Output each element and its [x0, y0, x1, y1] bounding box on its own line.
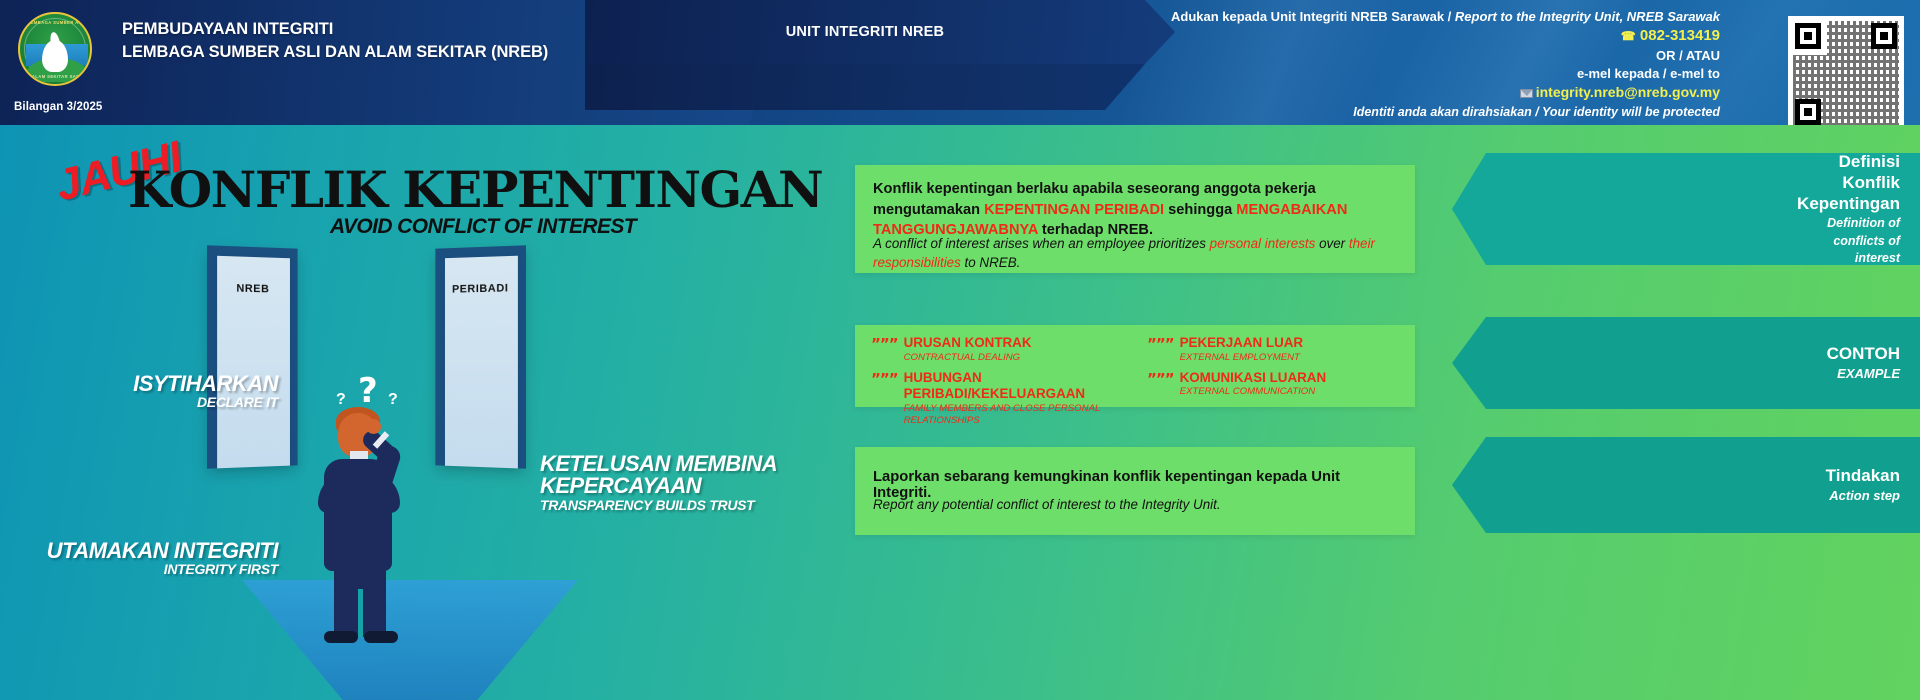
- example-item-en: CONTRACTUAL DEALING: [904, 352, 1032, 364]
- quote-icon: ”””: [1147, 372, 1174, 387]
- definition-panel: Konflik kepentingan berlaku apabila sese…: [855, 165, 1415, 273]
- example-item: ””” PEKERJAAN LUAR EXTERNAL EMPLOYMENT: [1147, 335, 1405, 364]
- person-shoe-left: [324, 631, 358, 643]
- door-peribadi: PERIBADI: [435, 245, 526, 468]
- person-shoe-right: [364, 631, 398, 643]
- door-nreb-label: NREB: [207, 282, 298, 296]
- logo-text-top: LEMBAGA SUMBER ASLI: [20, 20, 92, 25]
- infographic-root: LEMBAGA SUMBER ASLI DAN ALAM SEKITAR SAR…: [0, 0, 1920, 700]
- qr-inner: [1793, 21, 1899, 127]
- definition-my-red1: KEPENTINGAN PERIBADI: [984, 202, 1164, 218]
- quote-icon: ”””: [871, 372, 898, 387]
- phone-number[interactable]: 082-313419: [1640, 27, 1720, 44]
- person-leg-split: [358, 589, 363, 637]
- definition-text-my: Konflik kepentingan berlaku apabila sese…: [873, 179, 1401, 241]
- contact-block: Adukan kepada Unit Integriti NREB Sarawa…: [1070, 8, 1720, 120]
- report-sep: /: [1444, 9, 1455, 24]
- example-item-my: KOMUNIKASI LUARAN: [1180, 370, 1327, 387]
- caption-declare: ISYTIHARKAN DECLARE IT: [88, 373, 278, 410]
- definition-en-part3: to NREB.: [961, 255, 1021, 270]
- quote-icon: ”””: [1147, 337, 1174, 352]
- door-peribadi-label: PERIBADI: [435, 282, 526, 296]
- tab-definition-en-3: interest: [1855, 251, 1900, 267]
- phone-icon: ☎: [1621, 29, 1636, 43]
- definition-my-part2: sehingga: [1164, 202, 1236, 218]
- example-item-text: PEKERJAAN LUAR EXTERNAL EMPLOYMENT: [1180, 335, 1304, 364]
- question-mark-small-right: ?: [388, 391, 398, 409]
- caption-declare-en: DECLARE IT: [88, 395, 278, 409]
- poster-body: JAUHI KONFLIK KEPENTINGAN AVOID CONFLICT…: [0, 125, 1920, 700]
- example-item-text: KOMUNIKASI LUARAN EXTERNAL COMMUNICATION: [1180, 370, 1327, 399]
- caption-transparency-my-1: KETELUSAN MEMBINA: [540, 453, 840, 475]
- tab-action: Tindakan Action step: [1452, 437, 1920, 533]
- nreb-logo: LEMBAGA SUMBER ASLI DAN ALAM SEKITAR SAR…: [18, 12, 92, 86]
- qr-finder-top-left: [1795, 23, 1821, 49]
- tab-definition-my-2: Konflik: [1842, 172, 1900, 193]
- definition-en-red1: personal interests: [1210, 236, 1316, 251]
- definition-en-part2: over: [1315, 236, 1349, 251]
- page-subtitle: AVOID CONFLICT OF INTEREST: [330, 215, 636, 239]
- example-item-en: EXTERNAL EMPLOYMENT: [1180, 352, 1304, 364]
- tab-example-my: CONTOH: [1827, 343, 1900, 364]
- or-label: OR / ATAU: [1070, 47, 1720, 64]
- caption-integrity-my: UTAMAKAN INTEGRITI: [28, 540, 278, 562]
- definition-text-en: A conflict of interest arises when an em…: [873, 235, 1401, 273]
- tab-example-content: CONTOH EXAMPLE: [1498, 325, 1900, 401]
- tab-example-en: EXAMPLE: [1837, 366, 1900, 382]
- example-item: ””” KOMUNIKASI LUARAN EXTERNAL COMMUNICA…: [1147, 370, 1405, 427]
- example-item-my: URUSAN KONTRAK: [904, 335, 1032, 352]
- tab-definition-my-3: Kepentingan: [1797, 193, 1900, 214]
- report-my: Adukan kepada Unit Integriti NREB Sarawa…: [1171, 9, 1444, 24]
- caption-transparency-my-2: KEPERCAYAAN: [540, 475, 840, 497]
- example-item-my: HUBUNGAN PERIBADI/KEKELUARGAAN: [904, 370, 1129, 404]
- tab-definition-en-2: conflicts of: [1833, 234, 1900, 250]
- person-hand: [366, 419, 381, 434]
- caption-transparency: KETELUSAN MEMBINA KEPERCAYAAN TRANSPAREN…: [540, 453, 840, 512]
- email-label: e-mel kepada / e-mel to: [1070, 65, 1720, 82]
- qr-finder-bottom-left: [1795, 99, 1821, 125]
- door-nreb: NREB: [207, 245, 298, 468]
- report-line: Adukan kepada Unit Integriti NREB Sarawa…: [1070, 8, 1720, 25]
- report-en: Report to the Integrity Unit, NREB Saraw…: [1455, 9, 1720, 24]
- example-panel: ””” URUSAN KONTRAK CONTRACTUAL DEALING ”…: [855, 325, 1415, 407]
- email-line[interactable]: integrity.nreb@nreb.gov.my: [1070, 83, 1720, 101]
- example-item-text: URUSAN KONTRAK CONTRACTUAL DEALING: [904, 335, 1032, 364]
- caption-declare-my: ISYTIHARKAN: [88, 373, 278, 395]
- tab-definition-my-1: Definisi: [1839, 151, 1900, 172]
- qr-finder-top-right: [1871, 23, 1897, 49]
- example-item-en: EXTERNAL COMMUNICATION: [1180, 386, 1327, 398]
- example-item: ””” URUSAN KONTRAK CONTRACTUAL DEALING: [871, 335, 1129, 364]
- issue-number: Bilangan 3/2025: [14, 101, 102, 113]
- tab-definition-en-1: Definition of: [1827, 216, 1900, 232]
- caption-integrity: UTAMAKAN INTEGRITI INTEGRITY FIRST: [28, 540, 278, 577]
- person-illustration: ? ? ?: [310, 393, 420, 655]
- tab-action-my: Tindakan: [1826, 465, 1900, 486]
- caption-integrity-en: INTEGRITY FIRST: [28, 562, 278, 576]
- tab-action-content: Tindakan Action step: [1498, 445, 1900, 525]
- unit-banner-label: UNIT INTEGRITI NREB: [585, 0, 1145, 64]
- envelope-icon: [1520, 89, 1533, 98]
- definition-en-part1: A conflict of interest arises when an em…: [873, 236, 1210, 251]
- qr-code[interactable]: [1788, 16, 1904, 132]
- example-item-en: FAMILY MEMBERS AND CLOSE PERSONAL RELATI…: [904, 403, 1129, 427]
- tab-definition: Definisi Konflik Kepentingan Definition …: [1452, 153, 1920, 265]
- page-title: KONFLIK KEPENTINGAN: [128, 160, 822, 219]
- tab-example: CONTOH EXAMPLE: [1452, 317, 1920, 409]
- example-grid: ””” URUSAN KONTRAK CONTRACTUAL DEALING ”…: [871, 335, 1405, 401]
- caption-transparency-en: TRANSPARENCY BUILDS TRUST: [540, 498, 840, 512]
- quote-icon: ”””: [871, 337, 898, 352]
- phone-line[interactable]: ☎ 082-313419: [1070, 26, 1720, 46]
- tab-action-en: Action step: [1829, 488, 1900, 504]
- action-panel: Laporkan sebarang kemungkinan konflik ke…: [855, 447, 1415, 535]
- example-item-text: HUBUNGAN PERIBADI/KEKELUARGAAN FAMILY ME…: [904, 370, 1129, 427]
- tab-definition-content: Definisi Konflik Kepentingan Definition …: [1498, 161, 1900, 257]
- question-mark-large: ?: [358, 371, 378, 411]
- action-text-en: Report any potential conflict of interes…: [873, 497, 1401, 512]
- page-header: LEMBAGA SUMBER ASLI DAN ALAM SEKITAR SAR…: [0, 0, 1920, 145]
- question-mark-small-left: ?: [336, 391, 346, 409]
- email-address[interactable]: integrity.nreb@nreb.gov.my: [1536, 84, 1720, 100]
- logo-text-bottom: DAN ALAM SEKITAR SARAWAK: [20, 74, 92, 79]
- example-item: ””” HUBUNGAN PERIBADI/KEKELUARGAAN FAMIL…: [871, 370, 1129, 427]
- example-item-my: PEKERJAAN LUAR: [1180, 335, 1304, 352]
- identity-note: Identiti anda akan dirahsiakan / Your id…: [1070, 104, 1720, 121]
